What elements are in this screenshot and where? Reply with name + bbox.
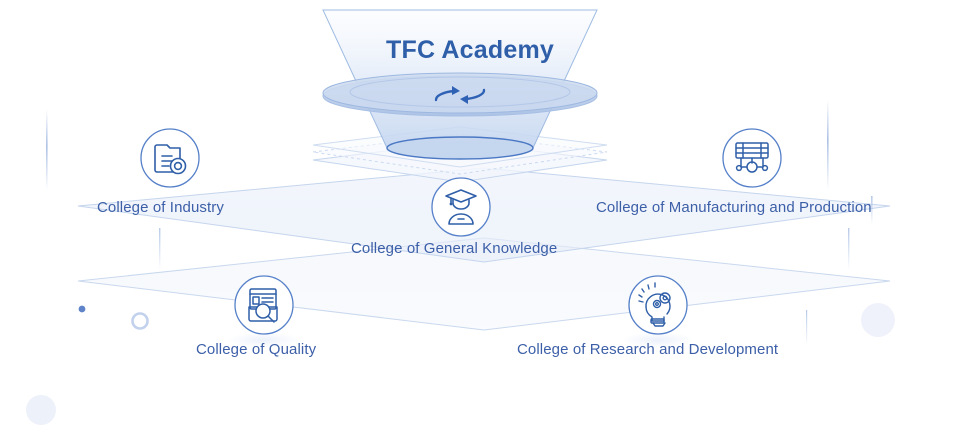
ring-circle (133, 314, 148, 329)
node-label-industry: College of Industry (97, 199, 224, 217)
vertical-gradient-line-left (46, 110, 48, 190)
node-icon-research-development[interactable] (629, 276, 687, 334)
node-icon-manufacturing[interactable] (723, 129, 781, 187)
vertical-gradient-line-low-right (806, 310, 807, 346)
vertical-gradient-line-right (827, 100, 829, 190)
filled-circle-right (861, 303, 895, 337)
diagram-canvas: TFC Academy College of Industry College … (0, 0, 968, 430)
node-icon-industry[interactable] (141, 129, 199, 187)
vertical-gradient-line-mid-right (848, 228, 849, 270)
node-label-general-knowledge: College of General Knowledge (351, 240, 557, 258)
filled-circle-bottom-left (26, 395, 56, 425)
dotted-line-cap-dot (79, 306, 86, 313)
node-label-quality: College of Quality (196, 341, 316, 359)
node-icon-quality[interactable] (235, 276, 293, 334)
page-title: TFC Academy (386, 36, 554, 65)
node-icon-general-knowledge[interactable] (432, 178, 490, 236)
node-label-research-development: College of Research and Development (517, 341, 778, 359)
node-label-manufacturing: College of Manufacturing and Production (596, 199, 872, 217)
funnel-cone (323, 10, 597, 159)
vertical-gradient-line-mid-left (159, 228, 160, 270)
